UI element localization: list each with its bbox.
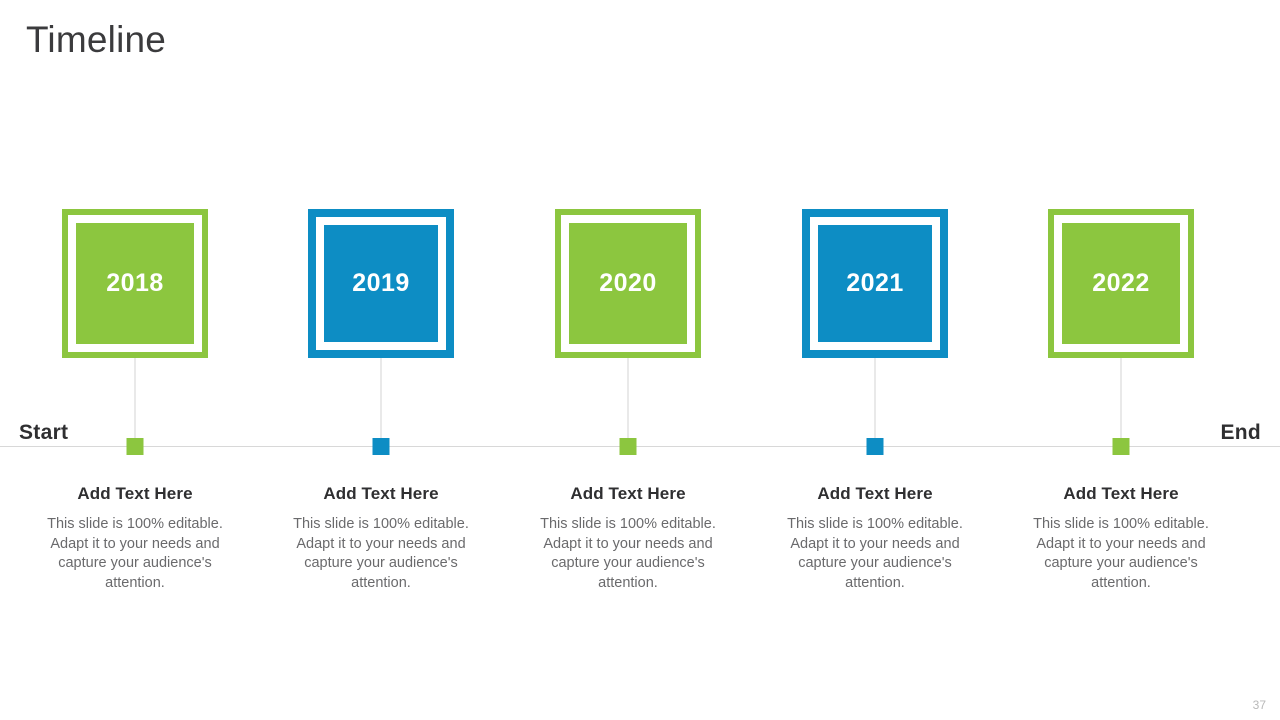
milestone-year-node[interactable]: 2022 — [1048, 209, 1194, 358]
timeline-milestone: 2019Add Text HereThis slide is 100% edit… — [258, 0, 504, 720]
milestone-heading: Add Text Here — [283, 484, 479, 504]
milestone-text-block: Add Text HereThis slide is 100% editable… — [283, 484, 479, 593]
milestone-year-node-fill: 2021 — [810, 217, 940, 350]
milestone-body: This slide is 100% editable. Adapt it to… — [1023, 515, 1219, 593]
milestone-year-label: 2018 — [106, 271, 164, 296]
milestone-axis-marker[interactable] — [867, 438, 884, 455]
milestone-axis-marker[interactable] — [373, 438, 390, 455]
milestone-axis-marker[interactable] — [620, 438, 637, 455]
milestone-year-node[interactable]: 2021 — [802, 209, 948, 358]
milestone-year-node[interactable]: 2020 — [555, 209, 701, 358]
milestone-year-node-fill: 2018 — [68, 215, 202, 352]
milestone-heading: Add Text Here — [777, 484, 973, 504]
milestone-connector-line — [135, 358, 136, 438]
milestone-text-block: Add Text HereThis slide is 100% editable… — [37, 484, 233, 593]
page-number: 37 — [1253, 698, 1266, 712]
milestone-connector-line — [1121, 358, 1122, 438]
milestone-text-block: Add Text HereThis slide is 100% editable… — [530, 484, 726, 593]
milestone-body: This slide is 100% editable. Adapt it to… — [37, 515, 233, 593]
milestone-connector-line — [381, 358, 382, 438]
milestone-axis-marker[interactable] — [1113, 438, 1130, 455]
timeline-milestone: 2020Add Text HereThis slide is 100% edit… — [505, 0, 751, 720]
timeline-milestone: 2021Add Text HereThis slide is 100% edit… — [752, 0, 998, 720]
timeline-container: 2018Add Text HereThis slide is 100% edit… — [0, 0, 1280, 720]
milestone-text-block: Add Text HereThis slide is 100% editable… — [1023, 484, 1219, 593]
milestone-year-node-fill: 2019 — [316, 217, 446, 350]
milestone-text-block: Add Text HereThis slide is 100% editable… — [777, 484, 973, 593]
milestone-body: This slide is 100% editable. Adapt it to… — [777, 515, 973, 593]
milestone-heading: Add Text Here — [530, 484, 726, 504]
milestone-connector-line — [875, 358, 876, 438]
milestone-connector-line — [628, 358, 629, 438]
timeline-milestone: 2022Add Text HereThis slide is 100% edit… — [998, 0, 1244, 720]
timeline-milestone: 2018Add Text HereThis slide is 100% edit… — [12, 0, 258, 720]
milestone-year-label: 2020 — [599, 271, 657, 296]
milestone-axis-marker[interactable] — [127, 438, 144, 455]
milestone-year-label: 2019 — [352, 271, 410, 296]
milestone-year-node[interactable]: 2018 — [62, 209, 208, 358]
milestone-body: This slide is 100% editable. Adapt it to… — [283, 515, 479, 593]
milestone-heading: Add Text Here — [1023, 484, 1219, 504]
milestone-year-label: 2022 — [1092, 271, 1150, 296]
milestone-year-node-fill: 2022 — [1054, 215, 1188, 352]
milestone-year-node-fill: 2020 — [561, 215, 695, 352]
milestone-body: This slide is 100% editable. Adapt it to… — [530, 515, 726, 593]
milestone-year-node[interactable]: 2019 — [308, 209, 454, 358]
milestone-year-label: 2021 — [846, 271, 904, 296]
milestone-heading: Add Text Here — [37, 484, 233, 504]
